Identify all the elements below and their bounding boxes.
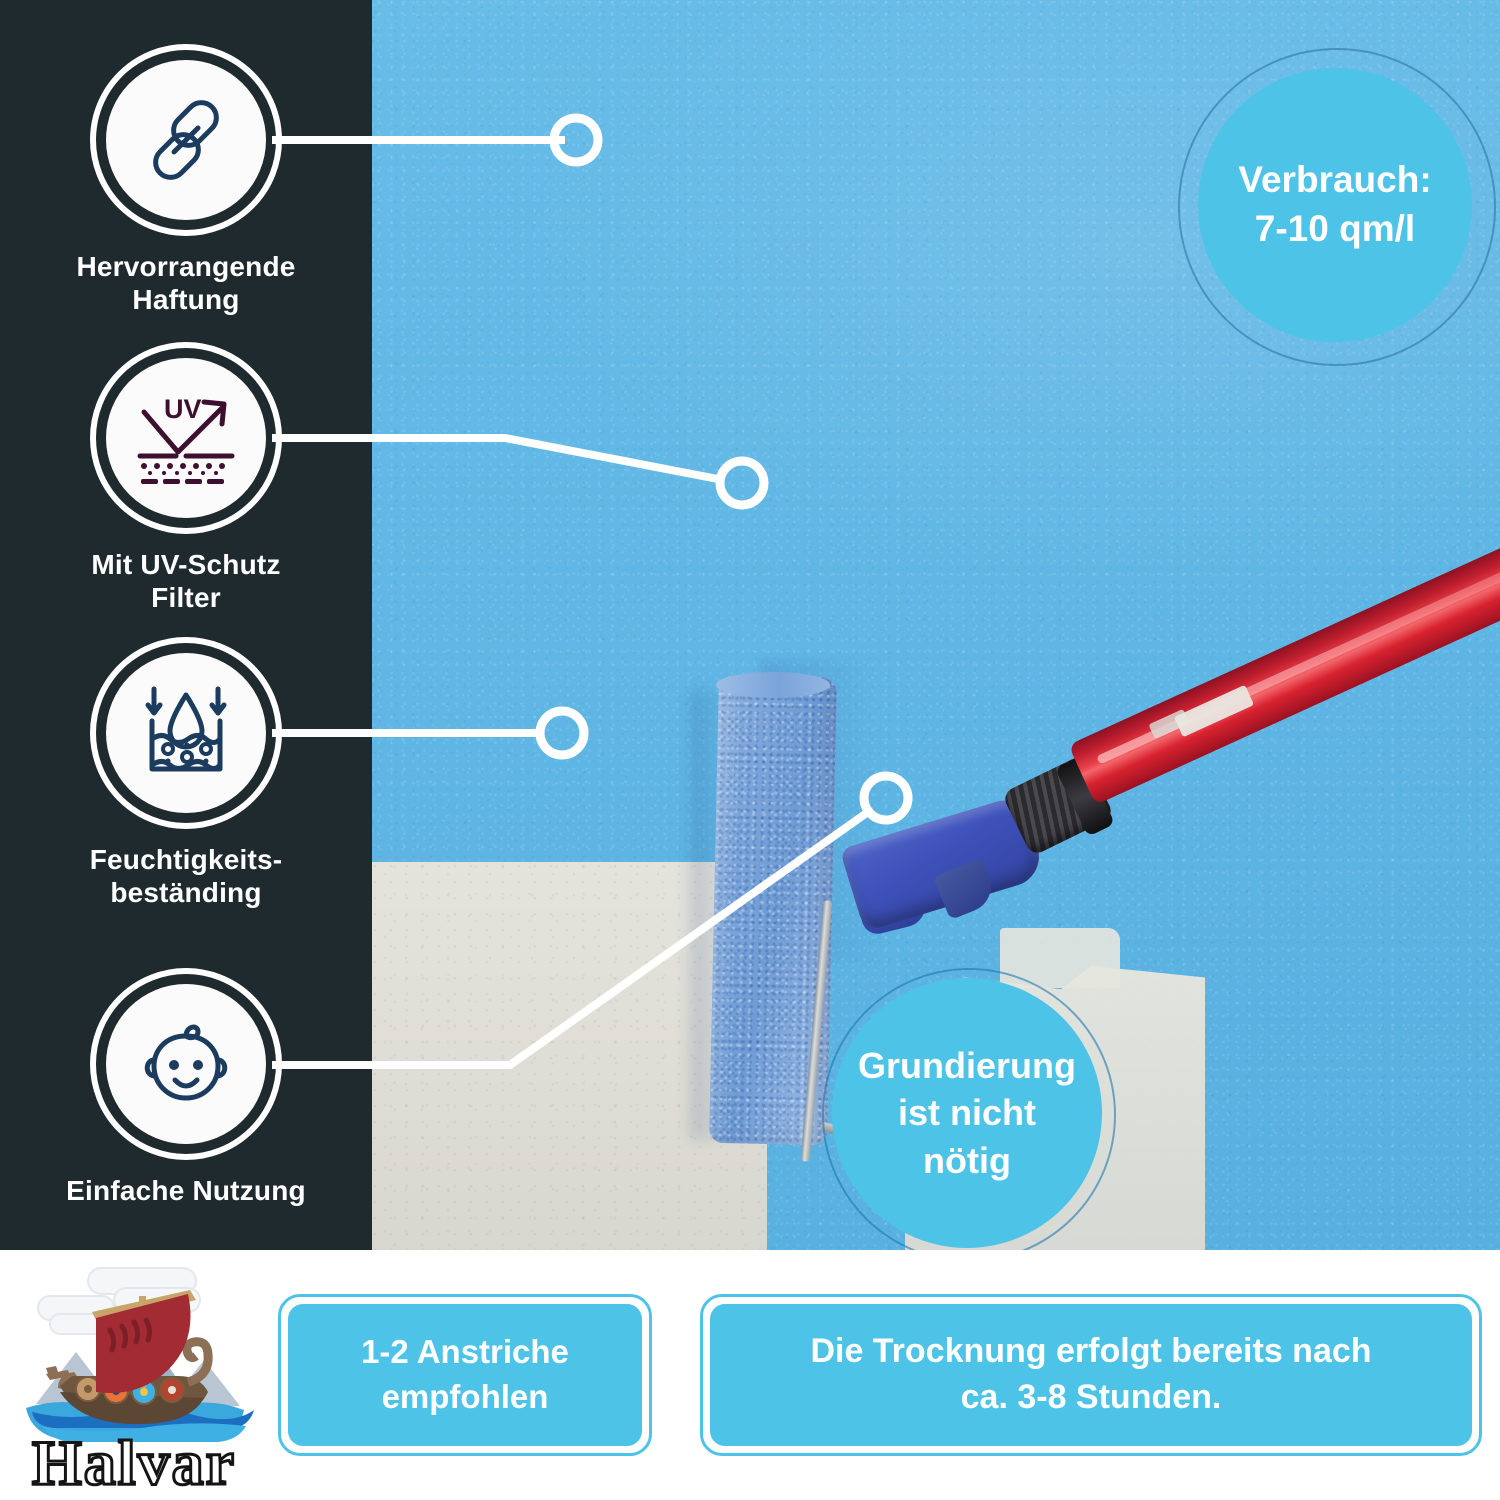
water-droplet-icon	[132, 681, 240, 785]
uv-surface-dots	[141, 463, 225, 484]
feature-label: Einfache Nutzung	[0, 1174, 372, 1207]
brand-wordmark: Halvar	[32, 1427, 236, 1494]
infographic-root: Hervorrangende Haftung UV	[0, 0, 1500, 1500]
feature-label: Hervorrangende Haftung	[0, 250, 372, 316]
note-coats-text: 1-2 Anstriche empfohlen	[288, 1304, 642, 1446]
feature-uv-protection[interactable]: UV Mit UV-Schutz Filter	[0, 342, 372, 614]
note-line1: 1-2 Anstriche	[361, 1333, 569, 1370]
badge-line1: Verbrauch:	[1238, 159, 1431, 200]
chain-link-icon	[134, 88, 238, 192]
feature-icon-ring	[90, 968, 282, 1160]
uv-shield-icon: UV	[130, 386, 242, 490]
badge-coverage[interactable]: Verbrauch: 7-10 qm/l	[1178, 48, 1492, 362]
feature-label-line2: Filter	[151, 582, 221, 613]
footer-bar: Halvar 1-2 Anstriche empfohlen Die Trock…	[0, 1250, 1500, 1500]
badge-line3: nötig	[923, 1140, 1011, 1181]
feature-label-line1: Mit UV-Schutz	[91, 549, 280, 580]
feature-icon-ring: UV	[90, 342, 282, 534]
paint-roller-sleeve	[709, 675, 837, 1145]
badge-no-primer-text: Grundierung ist nicht nötig	[832, 978, 1102, 1248]
feature-icon-disc	[106, 653, 266, 813]
note-coats[interactable]: 1-2 Anstriche empfohlen	[278, 1294, 652, 1456]
feature-icon-ring	[90, 44, 282, 236]
paint-roller-cap	[716, 672, 830, 698]
feature-label-line1: Einfache Nutzung	[66, 1175, 306, 1206]
note-drying-time[interactable]: Die Trocknung erfolgt bereits nach ca. 3…	[700, 1294, 1482, 1456]
note-line2: empfohlen	[382, 1378, 549, 1415]
uv-icon-text: UV	[164, 394, 202, 424]
feature-icon-disc	[106, 60, 266, 220]
note-line1: Die Trocknung erfolgt bereits nach	[810, 1332, 1371, 1370]
badge-line2: ist nicht	[898, 1092, 1036, 1133]
feature-moisture-resistant[interactable]: Feuchtigkeits- beständing	[0, 637, 372, 909]
badge-no-primer[interactable]: Grundierung ist nicht nötig	[822, 968, 1112, 1258]
feature-adhesion[interactable]: Hervorrangende Haftung	[0, 44, 372, 316]
note-drying-time-text: Die Trocknung erfolgt bereits nach ca. 3…	[710, 1304, 1472, 1446]
feature-label-line2: Haftung	[132, 284, 239, 315]
brand-logo[interactable]: Halvar	[18, 1256, 270, 1494]
feature-icon-disc	[106, 984, 266, 1144]
baby-face-icon	[134, 1012, 238, 1116]
feature-label-line2: beständing	[110, 877, 261, 908]
badge-coverage-text: Verbrauch: 7-10 qm/l	[1198, 68, 1472, 342]
badge-line2: 7-10 qm/l	[1255, 208, 1415, 249]
note-line2: ca. 3-8 Stunden.	[961, 1378, 1222, 1416]
feature-easy-use[interactable]: Einfache Nutzung	[0, 968, 372, 1207]
feature-icon-ring	[90, 637, 282, 829]
feature-icon-disc: UV	[106, 358, 266, 518]
feature-label-line1: Hervorrangende	[76, 251, 295, 282]
feature-label: Mit UV-Schutz Filter	[0, 548, 372, 614]
badge-line1: Grundierung	[858, 1045, 1076, 1086]
feature-label-line1: Feuchtigkeits-	[90, 844, 283, 875]
feature-label: Feuchtigkeits- beständing	[0, 843, 372, 909]
